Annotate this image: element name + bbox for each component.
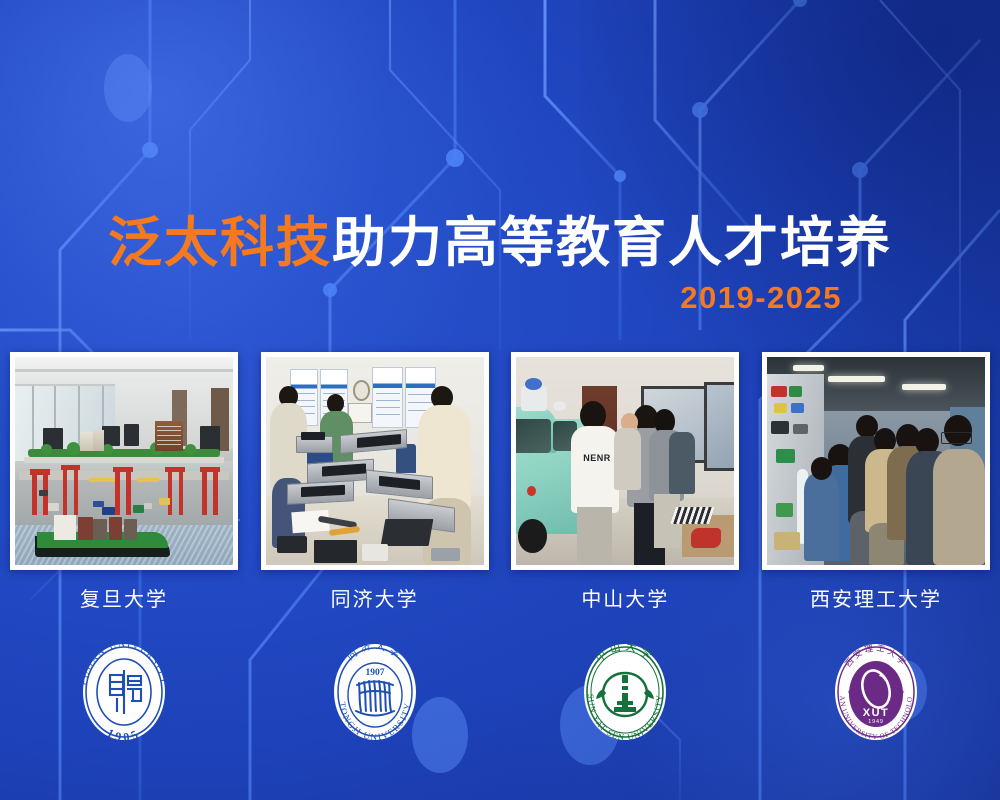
photo-card-fudan[interactable] [10,352,238,570]
photo-card-xian-university-of-technology[interactable] [762,352,990,570]
photo-equipment-demo [767,357,985,565]
university-label-xian-university-of-technology: 西安理工大学 [762,583,990,612]
logo-cell-tongji[interactable]: 同济大学 TONGJI UNIVERSITY 1907 [261,632,489,752]
photo-port-scale-model [15,357,233,565]
university-label-sun-yat-sen: 中山大学 [511,583,739,612]
university-logo-row: FUDAN UNIVERSITY 1905 [0,632,1000,752]
photo-autonomous-vehicle: NENR [516,357,734,565]
title-rest: 助力高等教育人才培养 [332,213,892,273]
title-brand: 泛太科技 [108,213,332,273]
logo-cell-fudan[interactable]: FUDAN UNIVERSITY 1905 [10,632,238,752]
fudan-university-logo: FUDAN UNIVERSITY 1905 [72,633,176,751]
photo-card-row: NENR [0,352,1000,570]
poster-canvas: 泛太科技助力高等教育人才培养 2019-2025 [0,0,1000,800]
xut-abbr: XUT [863,707,890,719]
tongji-year: 1907 [365,668,384,678]
photo-card-tongji[interactable] [261,352,489,570]
logo-cell-sun-yat-sen[interactable]: 中山大学 SUN YAT-SEN UNIVERSITY [511,632,739,752]
page-title: 泛太科技助力高等教育人才培养 [0,212,1000,274]
tongji-university-logo: 同济大学 TONGJI UNIVERSITY 1907 [323,633,427,751]
xut-year: 1949 [868,719,883,725]
xian-university-of-technology-logo: 西安理工大学 XI'AN UNIVERSITY OF TECHNOLOGY XU… [824,633,928,751]
logo-cell-xian-university-of-technology[interactable]: 西安理工大学 XI'AN UNIVERSITY OF TECHNOLOGY XU… [762,632,990,752]
page-subtitle-year-range: 2019-2025 [0,280,1000,316]
sun-yat-sen-university-logo: 中山大学 SUN YAT-SEN UNIVERSITY [573,633,677,751]
photo-card-sun-yat-sen[interactable]: NENR [511,352,739,570]
university-label-fudan: 复旦大学 [10,583,238,612]
university-label-tongji: 同济大学 [261,583,489,612]
photo-electronics-lab [266,357,484,565]
university-label-row: 复旦大学 同济大学 中山大学 西安理工大学 [0,583,1000,612]
